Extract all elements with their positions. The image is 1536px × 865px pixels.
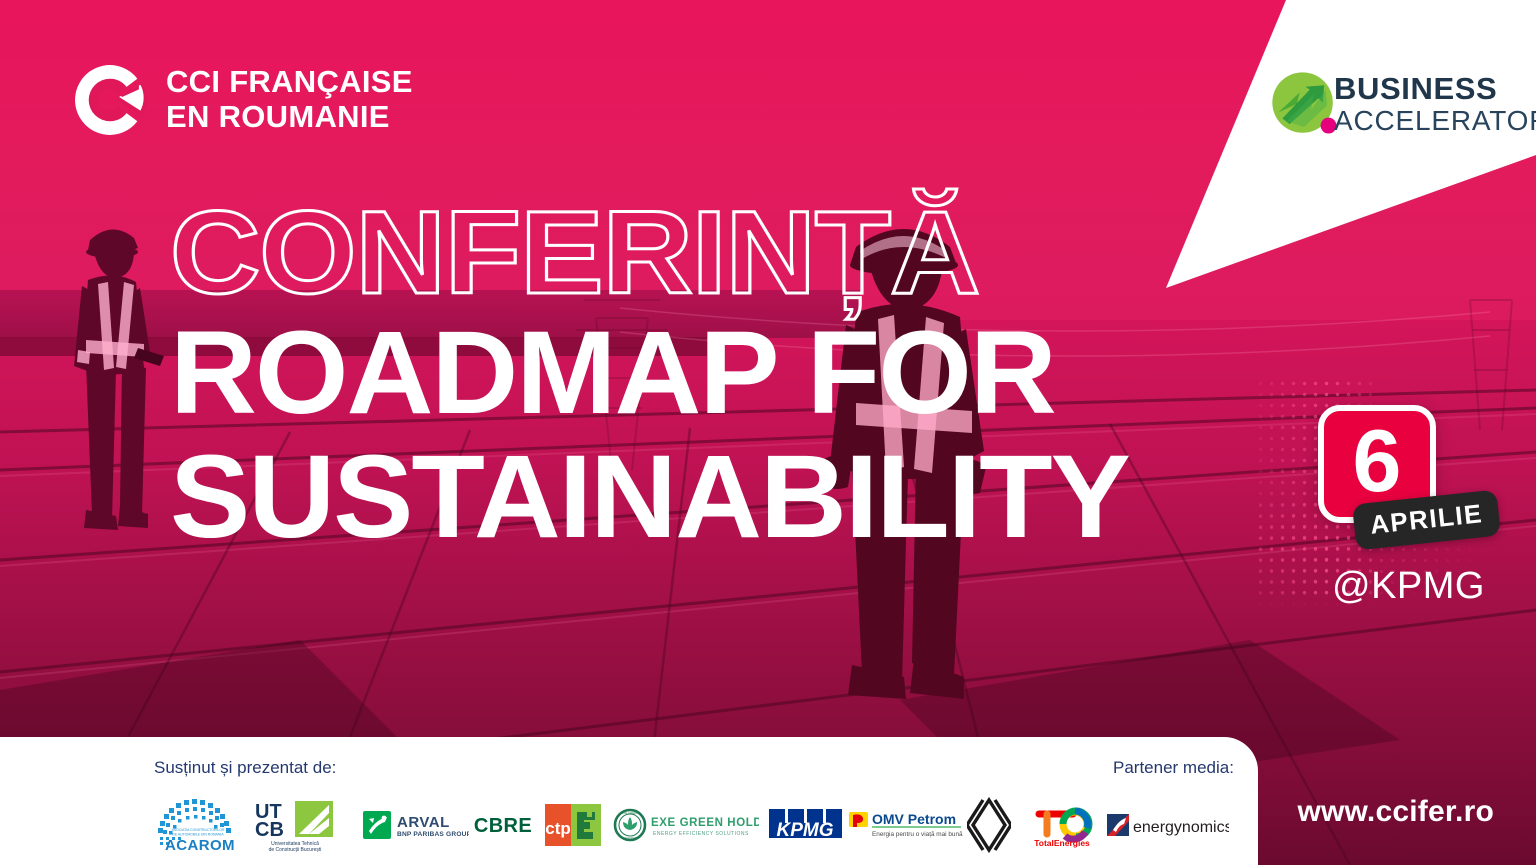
headline-line-roadmap: ROADMAP FOR xyxy=(170,314,1129,432)
kpmg-logo-icon: KPMG xyxy=(767,805,845,845)
exe-green-holding-logo-icon: EXE GREEN HOLDING EXE GREEN HOLDING ENER… xyxy=(613,808,759,842)
media-partner-logo-energynomics[interactable]: energynomics xyxy=(1106,789,1230,861)
ctp-logo-icon: ctp xyxy=(543,802,603,848)
svg-text:ARVAL: ARVAL xyxy=(397,814,450,831)
support-label: Susținut și prezentat de: xyxy=(154,758,336,778)
sponsor-logo-row: ASOCIATIA CONSTRUCTORILOR DE AUTOMOBILE … xyxy=(0,789,1258,861)
svg-text:EXE GREEN HOLDING: EXE GREEN HOLDING xyxy=(651,817,759,829)
footer-panel: Susținut și prezentat de: Partener media… xyxy=(0,737,1258,865)
event-poster: CCI FRANÇAISE EN ROUMANIE BUSINESS ACCEL… xyxy=(0,0,1536,865)
sponsor-logo-acarom[interactable]: ASOCIATIA CONSTRUCTORILOR DE AUTOMOBILE … xyxy=(152,789,248,861)
svg-text:KPMG: KPMG xyxy=(777,820,834,841)
svg-text:energynomics: energynomics xyxy=(1133,819,1229,836)
sponsor-logo-totalenergies[interactable]: TotalEnergies xyxy=(1022,789,1102,861)
headline-block: CONFERINȚĂ ROADMAP FOR SUSTAINABILITY xyxy=(170,196,1110,556)
photo-worker-left xyxy=(60,222,180,582)
accelerator-line-2: ACCELERATOR xyxy=(1334,106,1536,135)
event-venue-label: @KPMG xyxy=(1332,565,1485,608)
white-corner-wedge xyxy=(1136,0,1536,300)
svg-text:ACAROM: ACAROM xyxy=(165,837,235,853)
green-arrow-circle-icon xyxy=(1268,68,1340,140)
cci-logo-text: CCI FRANÇAISE EN ROUMANIE xyxy=(166,65,413,134)
svg-text:ctp: ctp xyxy=(545,819,571,838)
headline-line-sustainability: SUSTAINABILITY xyxy=(170,438,1129,556)
event-date-badge: 6 APRILIE @KPMG xyxy=(1318,405,1436,523)
cci-francaise-logo: CCI FRANÇAISE EN ROUMANIE xyxy=(72,62,413,138)
omv-petrom-logo-icon: OMV Petrom Energia pentru o viață mai bu… xyxy=(849,809,963,841)
energynomics-logo-icon: energynomics xyxy=(1107,811,1229,839)
sponsor-logo-renault[interactable] xyxy=(958,789,1020,861)
arval-logo-icon: ARVAL BNP PARIBAS GROUP xyxy=(363,807,469,843)
svg-text:TotalEnergies: TotalEnergies xyxy=(1034,838,1090,848)
sponsor-logo-omv-petrom[interactable]: OMV Petrom Energia pentru o viață mai bu… xyxy=(848,789,964,861)
date-day-number: 6 xyxy=(1353,417,1402,505)
sponsor-logo-utcb[interactable]: UT CB Universitatea Tehnică de Construcț… xyxy=(252,789,338,861)
cci-circle-mark-icon xyxy=(72,62,148,138)
svg-text:OMV Petrom: OMV Petrom xyxy=(872,811,956,827)
svg-text:CB: CB xyxy=(255,819,284,841)
svg-text:Energia pentru o viață mai bun: Energia pentru o viață mai bună. xyxy=(872,831,963,838)
svg-text:de Construcții București: de Construcții București xyxy=(269,847,322,853)
headline-line-conferinta: CONFERINȚĂ xyxy=(170,196,1166,310)
sponsor-logo-kpmg[interactable]: KPMG xyxy=(766,789,846,861)
sponsor-logo-arval[interactable]: ARVAL BNP PARIBAS GROUP xyxy=(362,789,470,861)
svg-text:BNP PARIBAS GROUP: BNP PARIBAS GROUP xyxy=(397,831,469,838)
cbre-logo-icon: CBRE xyxy=(467,812,539,838)
sponsor-logo-ctp[interactable]: ctp xyxy=(542,789,604,861)
svg-text:ASOCIATIA CONSTRUCTORILOR: ASOCIATIA CONSTRUCTORILOR xyxy=(172,828,225,832)
totalenergies-logo-icon: TotalEnergies xyxy=(1023,802,1101,848)
website-url[interactable]: www.ccifer.ro xyxy=(1297,795,1494,829)
cci-logo-line-1: CCI FRANÇAISE xyxy=(166,65,413,100)
cci-logo-line-2: EN ROUMANIE xyxy=(166,100,413,135)
svg-text:ENERGY EFFICIENCY SOLUTIONS: ENERGY EFFICIENCY SOLUTIONS xyxy=(653,831,749,837)
svg-text:HOLDING: HOLDING xyxy=(624,836,637,840)
svg-text:CBRE: CBRE xyxy=(474,815,532,837)
business-accelerator-logo: BUSINESS ACCELERATOR xyxy=(1268,68,1536,140)
svg-text:EXE GREEN: EXE GREEN xyxy=(622,811,638,815)
acarom-logo-icon: ASOCIATIA CONSTRUCTORILOR DE AUTOMOBILE … xyxy=(154,797,246,853)
business-accelerator-text: BUSINESS ACCELERATOR xyxy=(1334,73,1536,135)
sponsor-logo-cbre[interactable]: CBRE xyxy=(466,789,540,861)
accelerator-line-1: BUSINESS xyxy=(1334,73,1536,104)
sponsor-logo-exe-green-holding[interactable]: EXE GREEN HOLDING EXE GREEN HOLDING ENER… xyxy=(612,789,760,861)
renault-diamond-logo-icon xyxy=(967,796,1011,854)
svg-text:DE AUTOMOBILE DIN ROMANIA: DE AUTOMOBILE DIN ROMANIA xyxy=(172,833,224,837)
utcb-logo-icon: UT CB Universitatea Tehnică de Construcț… xyxy=(253,796,337,854)
media-partner-label: Partener media: xyxy=(1113,758,1234,778)
